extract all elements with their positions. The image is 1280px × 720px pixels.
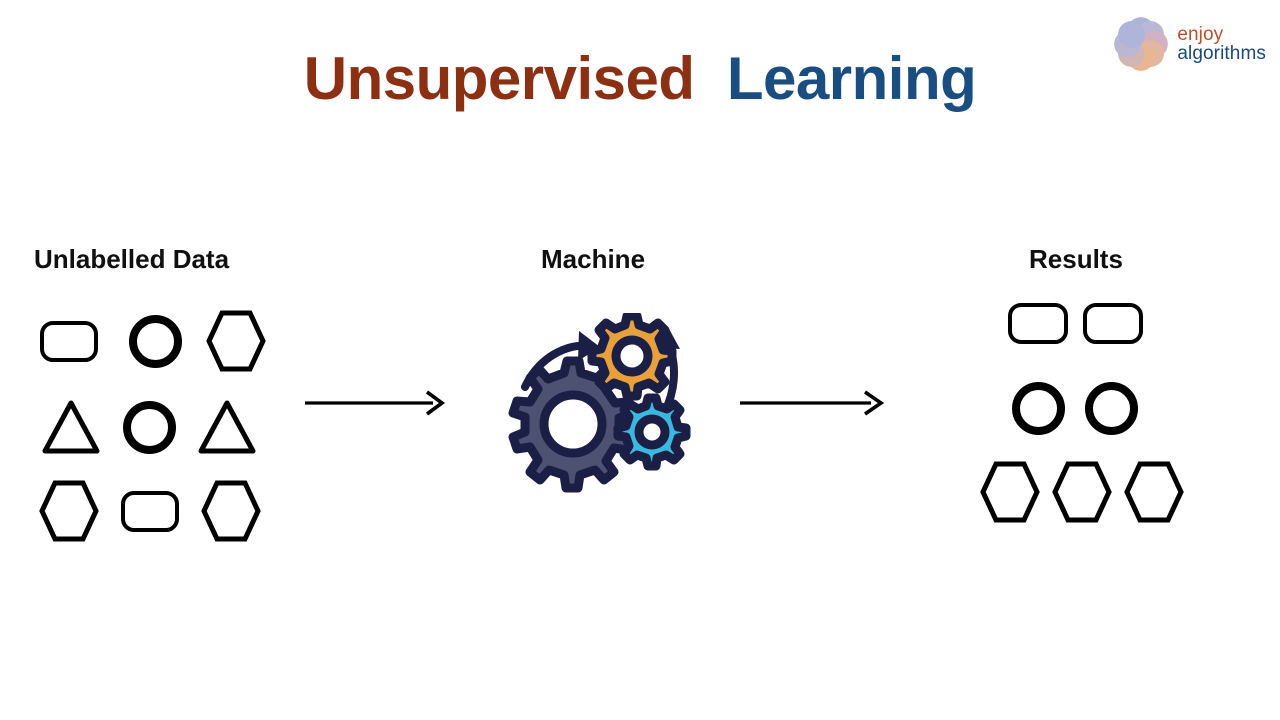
cyan-gear [618, 398, 686, 466]
shape-circle [1012, 382, 1065, 435]
shape-hexagon [1052, 461, 1112, 523]
shape-circle [129, 315, 182, 368]
results-group-rounded-rect [978, 303, 1184, 344]
results-group-circle [978, 382, 1184, 435]
results-shape-grid [978, 303, 1184, 523]
heading-results: Results [1029, 244, 1123, 275]
shape-row [34, 475, 266, 547]
orange-gear [592, 316, 672, 396]
shape-rounded-rect [40, 321, 98, 362]
shape-hexagon [1124, 461, 1184, 523]
shape-row [34, 391, 266, 463]
shape-circle [123, 401, 176, 454]
heading-unlabelled-data: Unlabelled Data [34, 244, 229, 275]
shape-hexagon [980, 461, 1040, 523]
shape-rounded-rect [121, 491, 179, 532]
flow-arrow-machine-to-results [738, 386, 886, 420]
shape-hexagon [206, 310, 266, 372]
heading-machine: Machine [541, 244, 645, 275]
results-group-hexagon [978, 461, 1184, 523]
gears-icon [505, 313, 700, 493]
shape-row [34, 305, 266, 377]
shape-circle [1085, 382, 1138, 435]
flow-arrow-data-to-machine [303, 386, 447, 420]
shape-hexagon [201, 480, 261, 542]
shape-triangle [197, 399, 257, 455]
page-title: Unsupervised Learning [0, 44, 1280, 113]
slide-canvas: enjoy algorithms Unsupervised Learning U… [0, 0, 1280, 720]
shape-triangle [41, 399, 101, 455]
shape-rounded-rect [1008, 303, 1068, 344]
shape-hexagon [39, 480, 99, 542]
title-word-primary: Unsupervised [304, 45, 695, 112]
logo-text-enjoy: enjoy [1177, 25, 1266, 44]
shape-rounded-rect [1083, 303, 1143, 344]
title-word-secondary: Learning [727, 45, 976, 112]
unlabelled-data-shape-grid [34, 305, 266, 547]
